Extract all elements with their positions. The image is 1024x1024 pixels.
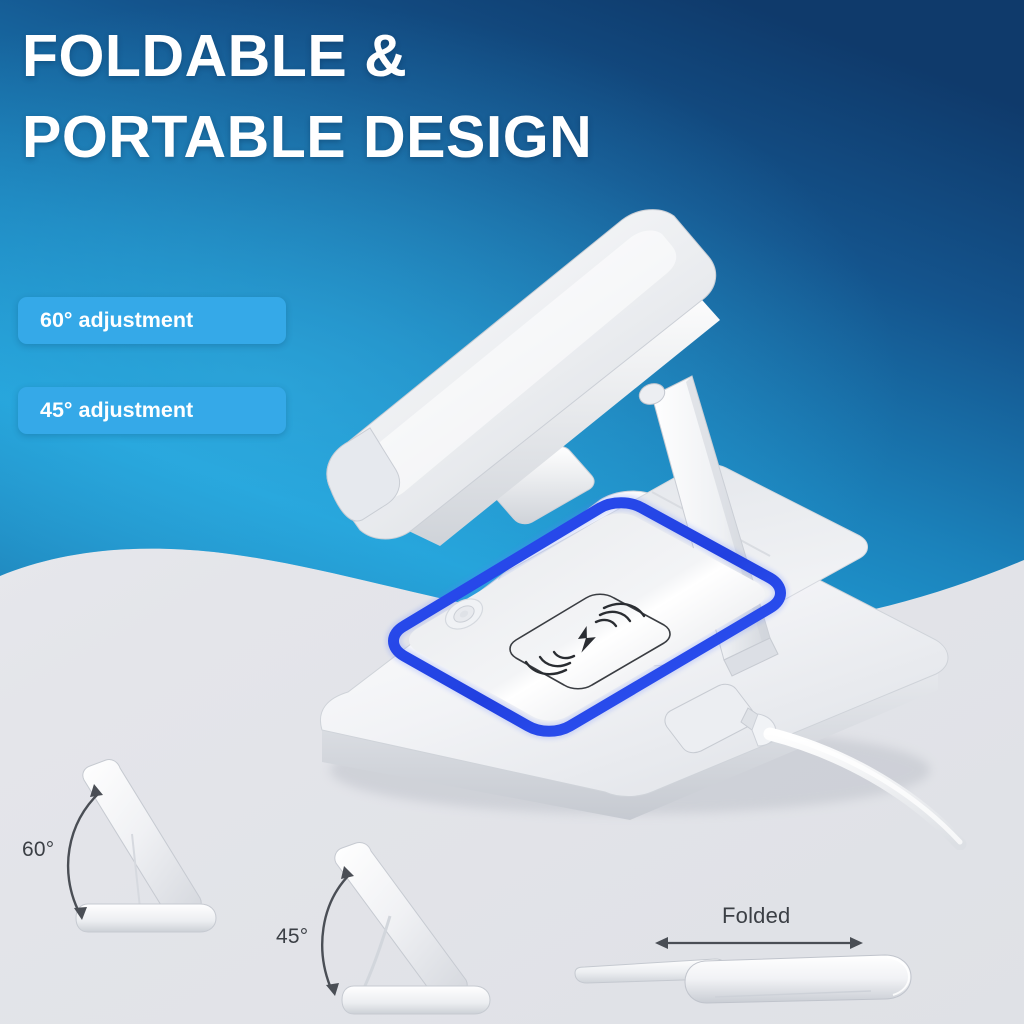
product-feature-image: FOLDABLE & PORTABLE DESIGN 60° adjustmen… <box>0 0 1024 1024</box>
figure-45-base <box>342 986 490 1014</box>
folded-label: Folded <box>722 903 790 929</box>
figure-45-arm <box>335 842 467 1000</box>
folded-arrowhead-right <box>850 937 863 949</box>
figure-45-strut <box>364 916 390 988</box>
badge-45-label: 45° adjustment <box>40 398 193 423</box>
headline-line-2: PORTABLE DESIGN <box>22 97 782 178</box>
figure-45-arc <box>322 874 350 986</box>
figure-60-base <box>76 904 216 932</box>
badge-45-adjustment: 45° adjustment <box>18 387 286 434</box>
figure-45-label: 45° <box>276 925 308 949</box>
angle-60-diagram <box>4 748 254 978</box>
folded-base <box>685 955 911 1003</box>
figure-45-arrowhead-bottom <box>326 983 339 996</box>
folded-arrowhead-left <box>655 937 668 949</box>
badge-60-adjustment: 60° adjustment <box>18 297 286 344</box>
figure-60-arm <box>83 759 201 918</box>
headline: FOLDABLE & PORTABLE DESIGN <box>22 16 782 179</box>
headline-line-1: FOLDABLE & <box>22 16 782 97</box>
figure-60-label: 60° <box>22 838 54 862</box>
figure-60-arc <box>68 792 100 910</box>
badge-60-label: 60° adjustment <box>40 308 193 333</box>
